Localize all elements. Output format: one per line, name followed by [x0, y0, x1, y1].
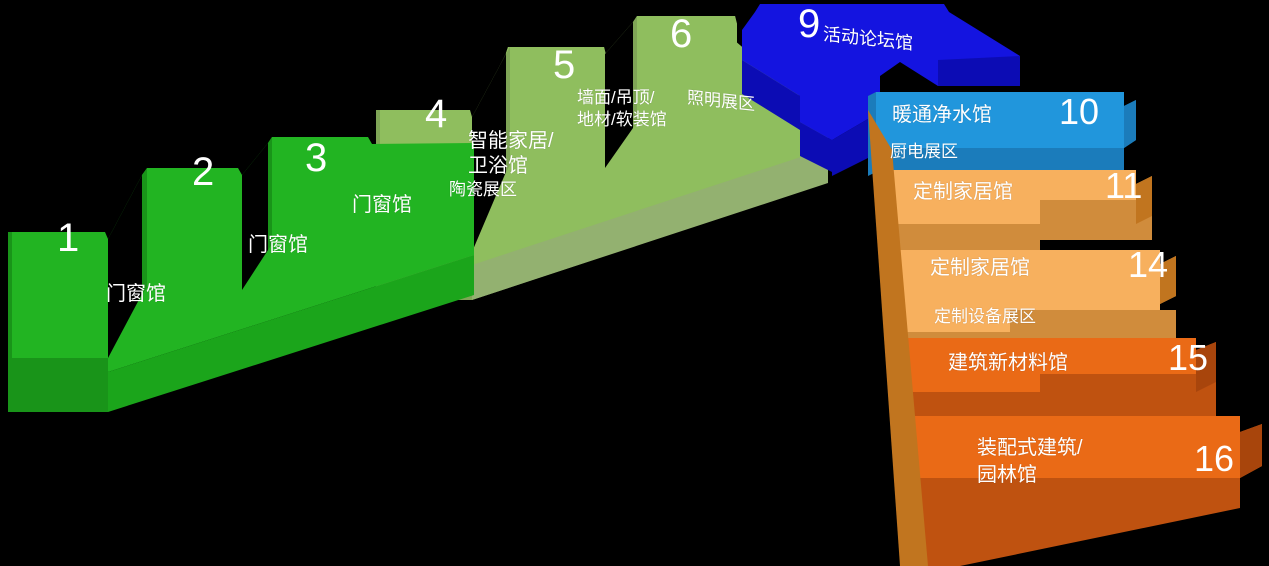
hall-4-name-line2[interactable]: 卫浴馆 [468, 155, 528, 179]
hall-16-name-line1[interactable]: 装配式建筑/ [977, 437, 1083, 461]
hall-16-name-line2[interactable]: 园林馆 [977, 464, 1037, 488]
hall-11-name[interactable]: 定制家居馆 [913, 181, 1013, 205]
hall-6-number[interactable]: 6 [670, 14, 692, 54]
orange16-notch [1240, 424, 1262, 478]
hall-11-number[interactable]: 11 [1105, 168, 1142, 204]
hall-1-name[interactable]: 门窗馆 [106, 283, 166, 307]
hall-16-number[interactable]: 16 [1194, 441, 1234, 477]
hall-2-name[interactable]: 门窗馆 [248, 234, 308, 258]
hall-15-name[interactable]: 建筑新材料馆 [948, 352, 1068, 376]
hall-14-number[interactable]: 14 [1128, 247, 1168, 283]
green-left-top-end [8, 232, 12, 358]
hall-4-zone[interactable]: 陶瓷展区 [449, 180, 517, 200]
exhibition-floor-map: 1 门窗馆 2 门窗馆 3 门窗馆 4 智能家居/ 卫浴馆 陶瓷展区 5 墙面/… [0, 0, 1269, 566]
hall-3-name[interactable]: 门窗馆 [352, 194, 412, 218]
blue10-notch [1124, 100, 1136, 148]
hall-3-number[interactable]: 3 [305, 138, 327, 178]
hall-5-number[interactable]: 5 [553, 45, 575, 85]
hall-4-number[interactable]: 4 [425, 94, 447, 134]
green-f2-end [142, 168, 147, 294]
hall-5-name-line1[interactable]: 墙面/吊顶/ [577, 88, 654, 108]
floorplan-svg [0, 0, 1269, 566]
orange16-front [912, 478, 1240, 566]
hall-15-number[interactable]: 15 [1168, 340, 1208, 376]
hall-block-bright-green[interactable] [8, 137, 474, 412]
hall-10-zone[interactable]: 厨电展区 [890, 142, 958, 162]
hall-1-number[interactable]: 1 [57, 218, 79, 258]
hall-14-zone[interactable]: 定制设备展区 [934, 307, 1036, 327]
hall-4-name-line1[interactable]: 智能家居/ [468, 130, 554, 154]
hall-5-name-line2[interactable]: 地材/软装馆 [577, 110, 667, 130]
hall-2-number[interactable]: 2 [192, 152, 214, 192]
hall-10-number[interactable]: 10 [1059, 94, 1099, 130]
hall-10-name[interactable]: 暖通净水馆 [892, 104, 992, 128]
blue9-right [938, 56, 1020, 86]
hall-14-name[interactable]: 定制家居馆 [930, 257, 1030, 281]
hall-9-number[interactable]: 9 [798, 4, 820, 44]
green-left-end [8, 358, 108, 412]
